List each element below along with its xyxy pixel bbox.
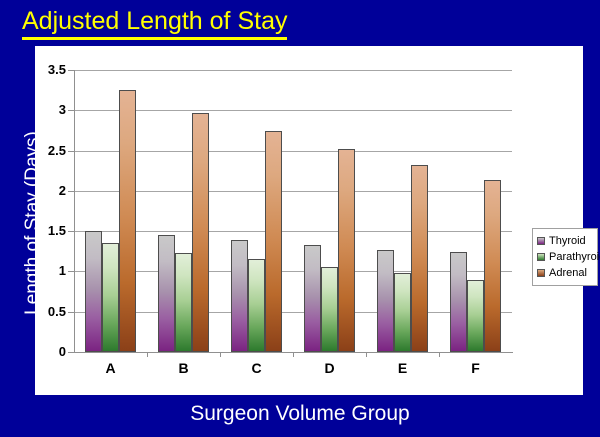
x-axis-separator: [147, 352, 148, 357]
bar-adrenal-e: [411, 165, 428, 352]
bar-parathyroid-c: [248, 259, 265, 352]
bar-adrenal-d: [338, 149, 355, 352]
legend-swatch-adrenal-icon: [537, 269, 545, 277]
chart-plot-panel: 00.511.522.533.5 ABCDEF ThyroidParathyro…: [35, 46, 583, 395]
y-axis-tick-label: 2.5: [35, 143, 66, 158]
legend-item-thyroid: Thyroid: [537, 233, 593, 248]
x-axis-tick-label-c: C: [220, 360, 293, 376]
bar-thyroid-c: [231, 240, 248, 352]
legend-label: Adrenal: [549, 267, 587, 279]
bar-thyroid-f: [450, 252, 467, 352]
legend-label: Thyroid: [549, 235, 586, 247]
bar-parathyroid-e: [394, 273, 411, 352]
bar-parathyroid-b: [175, 253, 192, 352]
x-axis-title: Surgeon Volume Group: [40, 402, 560, 426]
x-axis-separator: [293, 352, 294, 357]
bar-parathyroid-d: [321, 267, 338, 352]
chart-plot-inner: 00.511.522.533.5 ABCDEF ThyroidParathyro…: [35, 46, 583, 395]
x-axis-tick-label-f: F: [439, 360, 512, 376]
legend-swatch-thyroid-icon: [537, 237, 545, 245]
y-axis-tick-label: 0: [35, 344, 66, 359]
bar-adrenal-c: [265, 131, 282, 352]
slide-title: Adjusted Length of Stay: [22, 8, 287, 40]
bar-parathyroid-f: [467, 280, 484, 353]
x-axis-tick-label-b: B: [147, 360, 220, 376]
y-axis-tick-label: 1.5: [35, 223, 66, 238]
y-axis-tick-label: 1: [35, 263, 66, 278]
y-axis-tick-label: 2: [35, 183, 66, 198]
bar-thyroid-d: [304, 245, 321, 352]
x-axis-separator: [439, 352, 440, 357]
bar-adrenal-f: [484, 180, 501, 352]
legend-label: Parathyroid: [549, 251, 600, 263]
x-axis-tick-label-d: D: [293, 360, 366, 376]
chart-legend: ThyroidParathyroidAdrenal: [532, 228, 598, 286]
x-axis-tick-label-a: A: [74, 360, 147, 376]
bar-adrenal-a: [119, 90, 136, 352]
y-axis-tick-label: 0.5: [35, 304, 66, 319]
bar-thyroid-e: [377, 250, 394, 352]
x-axis-tick-label-e: E: [366, 360, 439, 376]
legend-item-adrenal: Adrenal: [537, 265, 593, 280]
chart-bars-layer: [74, 70, 512, 352]
legend-item-parathyroid: Parathyroid: [537, 249, 593, 264]
legend-swatch-parathyroid-icon: [537, 253, 545, 261]
x-axis-separator: [366, 352, 367, 357]
bar-parathyroid-a: [102, 243, 119, 352]
bar-adrenal-b: [192, 113, 209, 352]
y-axis-tick-label: 3: [35, 102, 66, 117]
x-axis-separator: [220, 352, 221, 357]
bar-thyroid-b: [158, 235, 175, 352]
bar-thyroid-a: [85, 231, 102, 352]
y-axis-tick-label: 3.5: [35, 62, 66, 77]
